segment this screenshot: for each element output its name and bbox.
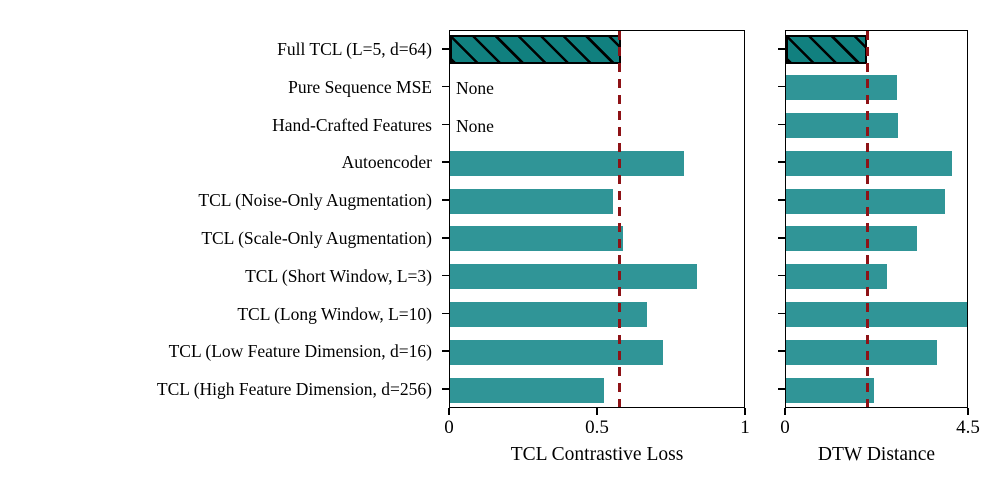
category-label: TCL (Low Feature Dimension, d=16): [2, 342, 432, 360]
bar: [450, 340, 663, 365]
x-tick: [967, 408, 969, 415]
category-label: TCL (Short Window, L=3): [2, 267, 432, 285]
bar: [786, 378, 874, 403]
y-tick: [778, 350, 785, 352]
y-tick: [778, 275, 785, 277]
y-tick: [442, 388, 449, 390]
bar: [450, 151, 684, 176]
x-tick: [448, 408, 450, 415]
y-tick: [442, 350, 449, 352]
y-tick: [778, 161, 785, 163]
x-axis-title: DTW Distance: [785, 444, 968, 465]
category-label: TCL (Noise-Only Augmentation): [2, 191, 432, 209]
category-label: Hand-Crafted Features: [2, 116, 432, 134]
y-tick: [778, 48, 785, 50]
bar: [450, 378, 604, 403]
category-label: Autoencoder: [2, 153, 432, 171]
bar: [450, 226, 623, 251]
y-tick: [778, 86, 785, 88]
y-tick: [778, 237, 785, 239]
bar: [786, 264, 887, 289]
x-tick-label: 0: [755, 418, 815, 438]
bar-highlight: [450, 35, 621, 64]
y-tick: [442, 313, 449, 315]
figure-canvas: Full TCL (L=5, d=64) Pure Sequence MSE H…: [0, 0, 996, 478]
panel-dtw-distance: [785, 30, 968, 408]
category-label: TCL (High Feature Dimension, d=256): [2, 380, 432, 398]
y-tick: [778, 199, 785, 201]
bar: [786, 113, 898, 138]
bar: [786, 226, 917, 251]
bar: [786, 302, 967, 327]
bar-highlight: [786, 35, 867, 64]
panel-tcl-contrastive-loss: NoneNone: [449, 30, 745, 408]
x-tick-label: 4.5: [938, 418, 996, 438]
bar: [450, 264, 697, 289]
missing-value-label: None: [456, 79, 494, 97]
y-tick: [778, 124, 785, 126]
y-tick: [442, 275, 449, 277]
bar: [450, 189, 613, 214]
bar: [786, 340, 937, 365]
x-tick-label: 0: [419, 418, 479, 438]
y-tick: [778, 313, 785, 315]
category-label: Full TCL (L=5, d=64): [2, 40, 432, 58]
bar: [786, 75, 897, 100]
category-label: TCL (Scale-Only Augmentation): [2, 229, 432, 247]
y-tick: [442, 161, 449, 163]
category-label: TCL (Long Window, L=10): [2, 305, 432, 323]
y-tick: [442, 124, 449, 126]
plot-area-right: [786, 31, 967, 407]
reference-line: [866, 31, 869, 407]
category-label: Pure Sequence MSE: [2, 78, 432, 96]
x-tick: [784, 408, 786, 415]
reference-line: [618, 31, 621, 407]
x-tick-label: 0.5: [567, 418, 627, 438]
y-tick: [778, 388, 785, 390]
x-tick: [744, 408, 746, 415]
y-tick: [442, 48, 449, 50]
category-label-column: Full TCL (L=5, d=64) Pure Sequence MSE H…: [0, 30, 440, 408]
y-tick: [442, 199, 449, 201]
plot-area-left: NoneNone: [450, 31, 744, 407]
x-axis-title: TCL Contrastive Loss: [449, 444, 745, 465]
missing-value-label: None: [456, 117, 494, 135]
x-tick: [596, 408, 598, 415]
y-tick: [442, 237, 449, 239]
y-tick: [442, 86, 449, 88]
